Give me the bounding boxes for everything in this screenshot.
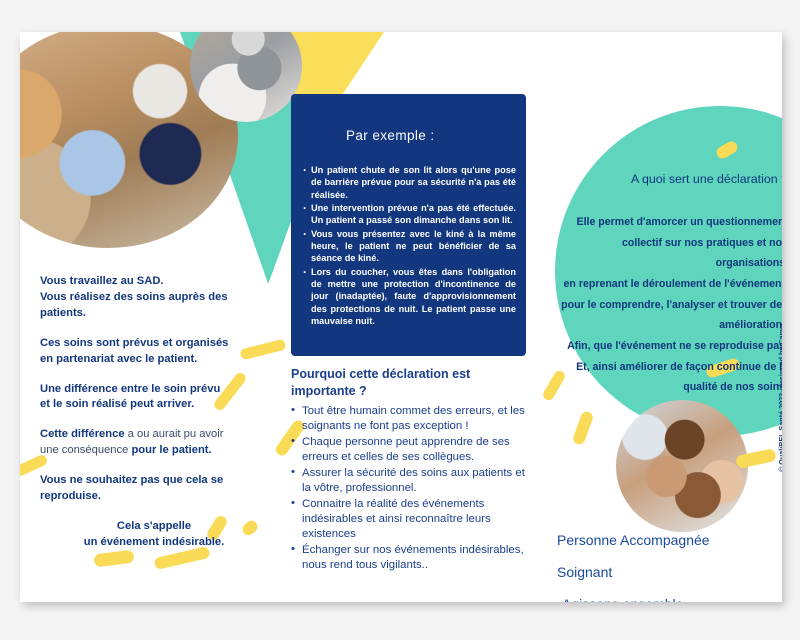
list-item: Lors du coucher, vous êtes dans l'obliga… [302, 266, 516, 328]
left-p3-line2: et le soin réalisé peut arriver. [40, 398, 194, 410]
flyer-sheet: Vous travaillez au SAD. Vous réalisez de… [20, 32, 782, 602]
list-item: Vous vous présentez avec le kiné à la mê… [302, 228, 516, 265]
left-p2-line1: Ces soins sont prévus et organisés [40, 337, 228, 349]
list-item: Connaitre la réalité des événements indé… [291, 497, 531, 542]
purpose-section-body: Elle permet d'amorcer un questionnement … [490, 212, 782, 398]
left-p4-reg2: une conséquence [40, 444, 131, 456]
stacked-hands-photo [616, 400, 748, 532]
purpose-line: pour le comprendre, l'analyser et trouve… [490, 295, 782, 316]
left-paragraph-1: Vous travaillez au SAD. Vous réalisez de… [40, 274, 268, 322]
purpose-line: collectif sur nos pratiques et nos [490, 233, 782, 254]
left-paragraph-3: Une différence entre le soin prévu et le… [40, 382, 268, 414]
example-box-list: Un patient chute de son lit alors qu'une… [302, 164, 516, 328]
left-paragraph-4: Cette différence a ou aurait pu avoir un… [40, 427, 268, 459]
left-paragraph-6: Cela s'appelle un événement indésirable. [40, 519, 268, 551]
example-box-title: Par exemple : [346, 128, 435, 143]
left-text-column: Vous travaillez au SAD. Vous réalisez de… [40, 274, 268, 565]
list-item: Chaque personne peut apprendre de ses er… [291, 435, 531, 465]
why-section-list: Tout être humain commet des erreurs, et … [291, 404, 531, 574]
left-p1-line2: Vous réalisez des soins auprès des [40, 291, 228, 303]
closing-line-3: Agissons ensemble [557, 596, 782, 602]
list-item: Un patient chute de son lit alors qu'une… [302, 164, 516, 201]
purpose-line: Et, ainsi améliorer de façon continue de… [490, 357, 782, 378]
closing-line-1: Personne Accompagnée [557, 532, 782, 548]
yellow-stroke-12 [572, 410, 595, 446]
copyright-credit: © QualiREL Santé 2023- designed by Canva [777, 323, 782, 472]
screenshot-stage: Vous travaillez au SAD. Vous réalisez de… [0, 0, 800, 640]
left-p3-line1: Une différence entre le soin prévu [40, 383, 220, 395]
purpose-line: qualité de nos soins. [490, 377, 782, 398]
left-p2-line2: en partenariat avec le patient. [40, 353, 197, 365]
purpose-line: organisations, [490, 253, 782, 274]
left-p4-bold2: pour le patient. [131, 444, 211, 456]
left-p4-reg1: a ou aurait pu avoir [125, 428, 224, 440]
purpose-line: en reprenant le déroulement de l'événeme… [490, 274, 782, 295]
list-item: Tout être humain commet des erreurs, et … [291, 404, 531, 434]
left-p6-line2: un événement indésirable. [84, 536, 225, 548]
left-paragraph-2: Ces soins sont prévus et organisés en pa… [40, 336, 268, 368]
left-p1-line3: patients. [40, 307, 86, 319]
left-paragraph-5: Vous ne souhaitez pas que cela se reprod… [40, 473, 268, 505]
purpose-section-title: A quoi sert une déclaration ? [540, 172, 782, 186]
left-p5-line2: reproduise. [40, 490, 101, 502]
closing-block: Personne Accompagnée Soignant Agissons e… [557, 532, 782, 602]
list-item: Échanger sur nos événements indésirables… [291, 543, 531, 573]
left-p4-bold1: Cette différence [40, 428, 125, 440]
closing-line-2: Soignant [557, 564, 782, 580]
purpose-line: Elle permet d'amorcer un questionnement [490, 212, 782, 233]
left-p5-line1: Vous ne souhaitez pas que cela se [40, 474, 223, 486]
left-p1-line1: Vous travaillez au SAD. [40, 275, 164, 287]
left-p6-line1: Cela s'appelle [117, 520, 191, 532]
purpose-line: Afin, que l'événement ne se reproduise p… [490, 336, 782, 357]
list-item: Assurer la sécurité des soins aux patien… [291, 466, 531, 496]
list-item: Une intervention prévue n'a pas été effe… [302, 202, 516, 227]
purpose-line: améliorations [490, 315, 782, 336]
